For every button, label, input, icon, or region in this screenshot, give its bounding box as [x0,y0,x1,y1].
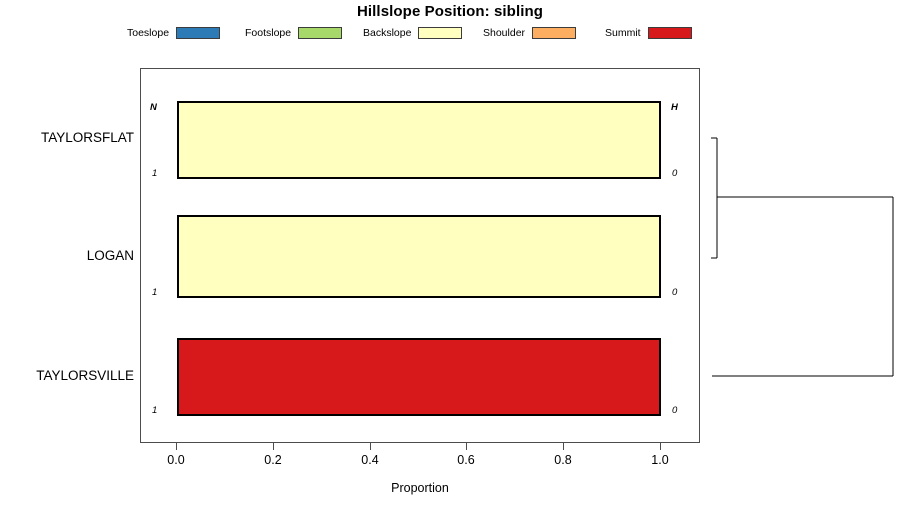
row-label-taylorsflat: TAYLORSFLAT [6,130,134,145]
annot-value-h-row1: 0 [672,168,677,179]
annot-header-h-row1: H [671,102,678,113]
category-axis-labels: TAYLORSFLAT LOGAN TAYLORSVILLE [0,0,134,520]
annot-value-h-row3: 0 [672,405,677,416]
legend: Toeslope Footslope Backslope Shoulder Su… [110,24,750,44]
legend-swatch-toeslope [176,27,220,39]
annot-value-n-row3: 1 [152,405,157,416]
legend-entry-toeslope[interactable]: Toeslope [127,24,220,42]
annot-value-h-row2: 0 [672,287,677,298]
tick-label-2: 0.4 [350,453,390,467]
annot-value-n-row1: 1 [152,168,157,179]
tick-mark-4 [563,443,564,450]
row-label-logan: LOGAN [6,248,134,263]
tick-label-4: 0.8 [543,453,583,467]
tick-label-0: 0.0 [156,453,196,467]
legend-label-summit: Summit [605,27,641,39]
legend-label-backslope: Backslope [363,27,411,39]
dendrogram [700,60,900,460]
tick-label-5: 1.0 [640,453,680,467]
legend-label-shoulder: Shoulder [483,27,525,39]
annot-header-n-row1: N [150,102,157,113]
annot-value-n-row2: 1 [152,287,157,298]
tick-label-3: 0.6 [446,453,486,467]
bar-taylorsville-summit[interactable] [177,338,661,416]
tick-mark-5 [660,443,661,450]
legend-swatch-shoulder [532,27,576,39]
tick-mark-1 [273,443,274,450]
page-title: Hillslope Position: sibling [0,3,900,20]
legend-label-footslope: Footslope [245,27,291,39]
legend-entry-footslope[interactable]: Footslope [245,24,342,42]
bar-logan-backslope[interactable] [177,215,661,298]
legend-swatch-summit [648,27,692,39]
row-label-taylorsville: TAYLORSVILLE [6,368,134,383]
legend-entry-summit[interactable]: Summit [605,24,692,42]
tick-mark-2 [370,443,371,450]
legend-swatch-backslope [418,27,462,39]
chart-canvas: Hillslope Position: sibling Toeslope Foo… [0,0,900,520]
dendrogram-svg [700,60,900,460]
tick-label-1: 0.2 [253,453,293,467]
legend-swatch-footslope [298,27,342,39]
legend-entry-backslope[interactable]: Backslope [363,24,462,42]
x-axis: 0.0 0.2 0.4 0.6 0.8 1.0 Proportion [140,443,700,503]
legend-entry-shoulder[interactable]: Shoulder [483,24,576,42]
tick-mark-3 [466,443,467,450]
bar-taylorsflat-backslope[interactable] [177,101,661,179]
x-axis-title: Proportion [140,481,700,495]
tick-mark-0 [176,443,177,450]
plot-panel: N 1 H 0 1 0 1 0 [140,68,700,443]
